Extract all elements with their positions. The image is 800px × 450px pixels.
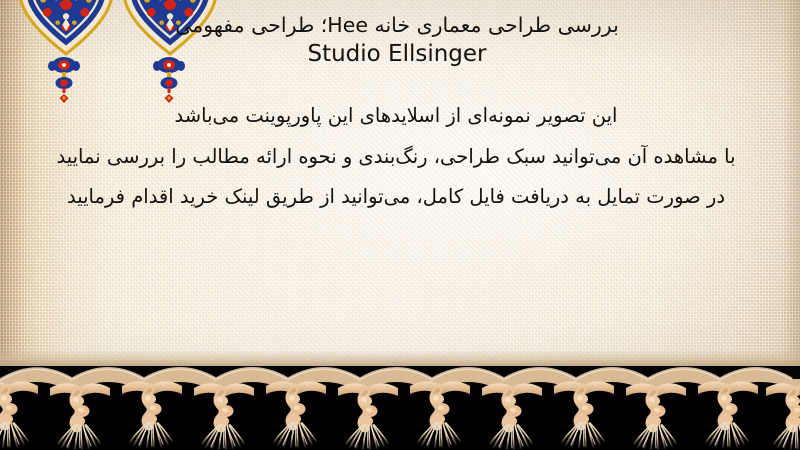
- slide-body: این تصویر نمونه‌ای از اسلایدهای این پاور…: [16, 106, 776, 207]
- title-line-primary: بررسی طراحی معماری خانه Hee؛ طراحی مفهوم…: [32, 12, 762, 39]
- slide-canvas: بررسی طراحی معماری خانه Hee؛ طراحی مفهوم…: [0, 0, 800, 450]
- body-line-3: در صورت تمایل به دریافت فایل کامل، می‌تو…: [16, 187, 776, 207]
- slide-title: بررسی طراحی معماری خانه Hee؛ طراحی مفهوم…: [32, 12, 762, 70]
- body-line-1: این تصویر نمونه‌ای از اسلایدهای این پاور…: [16, 106, 776, 126]
- title-line-secondary: Studio Ellsinger: [32, 40, 762, 70]
- body-line-2: با مشاهده آن می‌توانید سبک طراحی، رنگ‌بن…: [16, 147, 776, 167]
- slide-text-layer: بررسی طراحی معماری خانه Hee؛ طراحی مفهوم…: [0, 0, 800, 450]
